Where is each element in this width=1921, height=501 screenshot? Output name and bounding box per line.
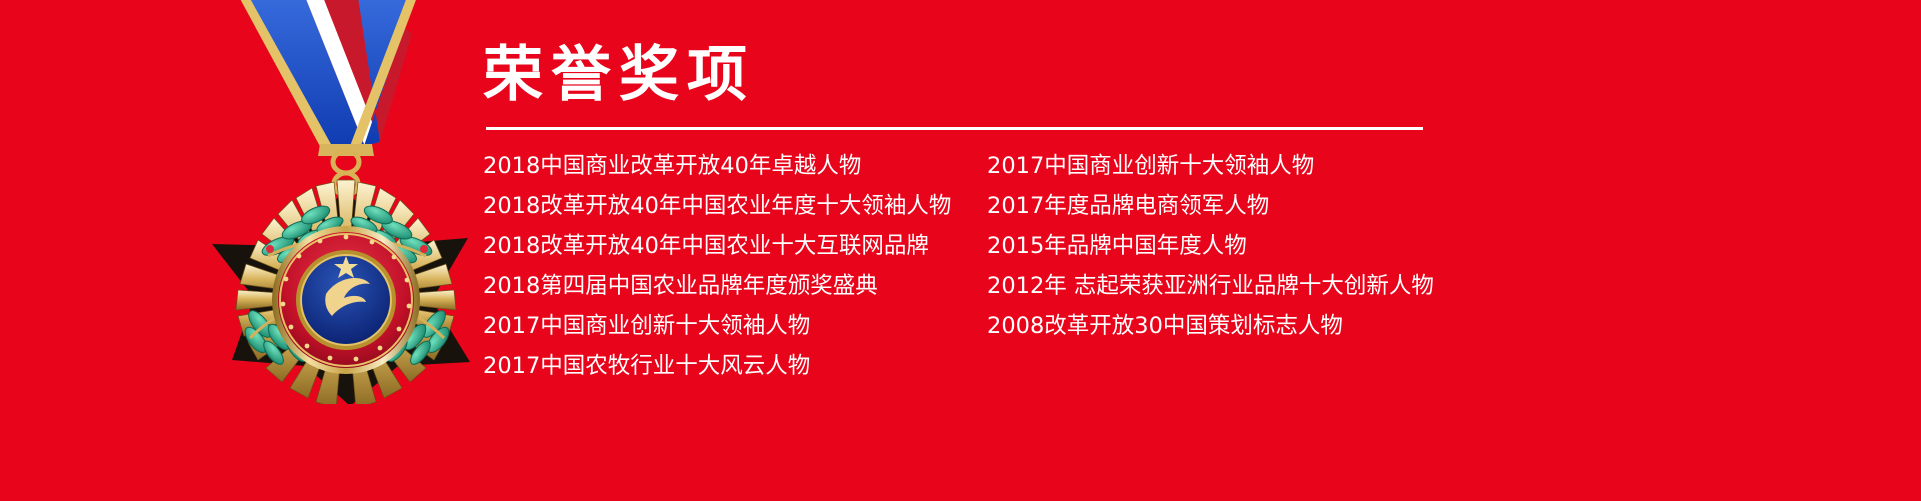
medal-laurel [234,199,459,381]
award-item: 2015年品牌中国年度人物 [987,226,1587,266]
award-item: 2008改革开放30中国策划标志人物 [987,306,1587,346]
awards-column-left: 2018中国商业改革开放40年卓越人物 2018改革开放40年中国农业年度十大领… [483,146,987,386]
award-item: 2017中国商业创新十大领袖人物 [987,146,1587,186]
awards-column-right: 2017中国商业创新十大领袖人物 2017年度品牌电商领军人物 2015年品牌中… [987,146,1587,346]
awards-content: 荣誉奖项 2018中国商业改革开放40年卓越人物 2018改革开放40年中国农业… [483,38,1883,386]
award-item: 2017年度品牌电商领军人物 [987,186,1587,226]
award-item: 2017中国商业创新十大领袖人物 [483,306,987,346]
award-item: 2018中国商业改革开放40年卓越人物 [483,146,987,186]
honor-awards-banner: 荣誉奖项 2018中国商业改革开放40年卓越人物 2018改革开放40年中国农业… [0,0,1921,501]
medal-center [272,226,420,374]
title-divider [486,127,1423,130]
award-item: 2018改革开放40年中国农业年度十大领袖人物 [483,186,987,226]
medal-backplate [212,190,470,404]
award-item: 2017中国农牧行业十大风云人物 [483,346,987,386]
award-item: 2018改革开放40年中国农业十大互联网品牌 [483,226,987,266]
medal-ribbon [232,0,422,156]
star-medal-icon [150,0,470,404]
award-item: 2012年 志起荣获亚洲行业品牌十大创新人物 [987,266,1587,306]
medal-rings [333,151,359,195]
award-item: 2018第四届中国农业品牌年度颁奖盛典 [483,266,987,306]
medal-rays [236,180,456,404]
page-title: 荣誉奖项 [483,38,1883,113]
awards-list: 2018中国商业改革开放40年卓越人物 2018改革开放40年中国农业年度十大领… [483,146,1883,386]
